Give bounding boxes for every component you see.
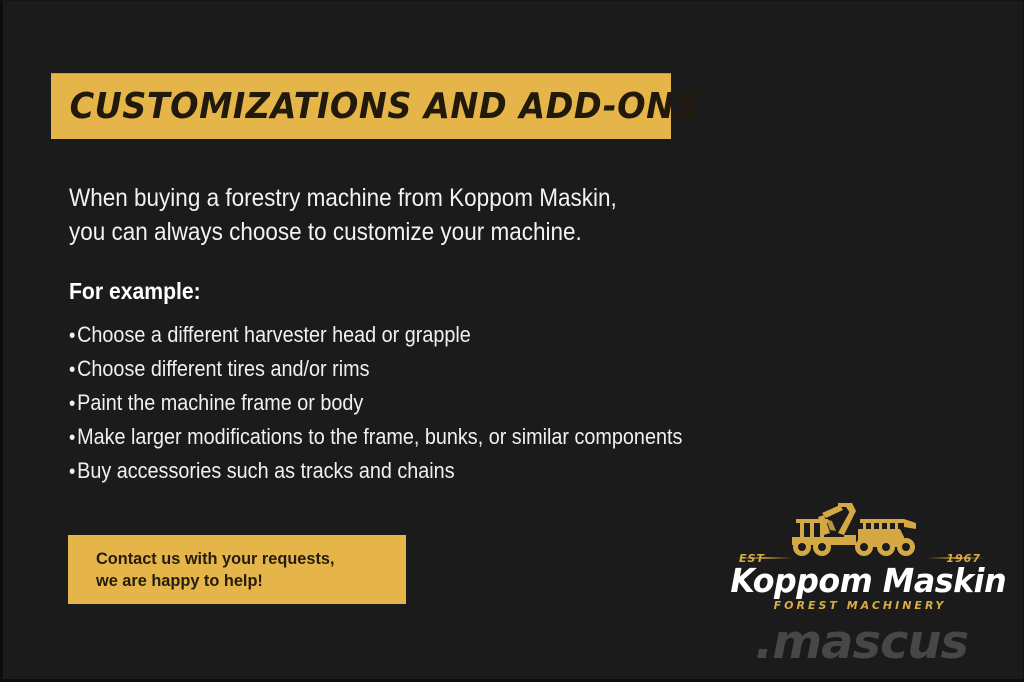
intro-paragraph: When buying a forestry machine from Kopp… [69, 181, 699, 249]
intro-line-1: When buying a forestry machine from Kopp… [69, 181, 699, 215]
contact-cta-box[interactable]: Contact us with your requests, we are ha… [68, 535, 406, 604]
example-bullet-list: • Choose a different harvester head or g… [69, 322, 829, 492]
bullet-dot-icon: • [69, 428, 75, 448]
bullet-dot-icon: • [69, 394, 75, 414]
list-item-label: Make larger modifications to the frame, … [77, 424, 682, 450]
contact-line-2: we are happy to help! [96, 570, 394, 592]
list-item: • Choose a different harvester head or g… [69, 322, 753, 356]
list-item-label: Paint the machine frame or body [77, 390, 363, 416]
list-item: • Choose different tires and/or rims [69, 356, 753, 390]
contact-line-1: Contact us with your requests, [96, 548, 394, 570]
list-item-label: Choose different tires and/or rims [77, 356, 369, 382]
koppom-maskin-logo: EST 1967 Koppom Maskin FOREST MACHINERY [725, 499, 995, 617]
intro-line-2: you can always choose to customize your … [69, 215, 699, 249]
list-item-label: Buy accessories such as tracks and chain… [77, 458, 454, 484]
list-item: • Make larger modifications to the frame… [69, 424, 753, 458]
list-item-label: Choose a different harvester head or gra… [77, 322, 471, 348]
bullet-dot-icon: • [69, 462, 75, 482]
logo-tagline: FOREST MACHINERY [725, 599, 995, 612]
list-item: • Paint the machine frame or body [69, 390, 753, 424]
logo-est-label: EST [739, 552, 765, 565]
example-heading: For example: [69, 278, 201, 305]
page-title: CUSTOMIZATIONS AND ADD-ONS [51, 86, 699, 127]
title-banner: CUSTOMIZATIONS AND ADD-ONS [51, 73, 671, 139]
logo-year: 1967 [946, 552, 981, 565]
list-item: • Buy accessories such as tracks and cha… [69, 458, 753, 492]
forestry-forwarder-icon [760, 499, 960, 557]
mascus-watermark: .mascus [755, 615, 968, 670]
bullet-dot-icon: • [69, 326, 75, 346]
logo-company-name: Koppom Maskin [730, 561, 989, 600]
promo-slide: CUSTOMIZATIONS AND ADD-ONS When buying a… [0, 0, 1024, 682]
bullet-dot-icon: • [69, 360, 75, 380]
